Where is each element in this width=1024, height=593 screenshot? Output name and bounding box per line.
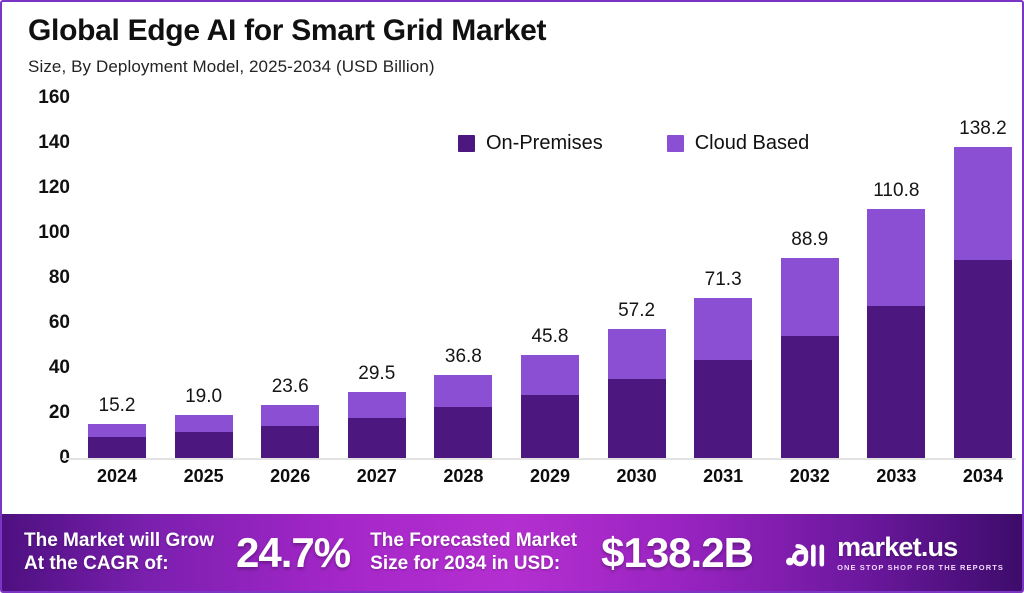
bar-value-label: 15.2 (99, 395, 136, 417)
bar-group[interactable]: 45.8 (521, 98, 579, 458)
forecast-value: $138.2B (601, 529, 753, 577)
bar-segment-on-premises (348, 418, 406, 459)
cagr-caption-line1: The Market will Grow (24, 530, 214, 552)
bar-segment-cloud-based (521, 355, 579, 395)
forecast-caption-line2: Size for 2034 in USD: (370, 553, 577, 575)
bar-group[interactable]: 36.8 (434, 98, 492, 458)
bar-segment-cloud-based (867, 209, 925, 306)
bar-segment-cloud-based (348, 392, 406, 418)
bar-segment-cloud-based (781, 258, 839, 336)
bar-stack: 19.0 (175, 415, 233, 458)
x-axis-tick: 2029 (521, 466, 579, 498)
brand-tagline: ONE STOP SHOP FOR THE REPORTS (837, 564, 1004, 572)
bar-stack: 110.8 (867, 209, 925, 458)
bar-group[interactable]: 88.9 (781, 98, 839, 458)
bar-group[interactable]: 110.8 (867, 98, 925, 458)
bar-value-label: 110.8 (873, 180, 919, 202)
brand-logo[interactable]: market.us ONE STOP SHOP FOR THE REPORTS (784, 534, 1004, 572)
cagr-value: 24.7% (236, 529, 350, 577)
bar-value-label: 88.9 (791, 229, 828, 251)
chart-header: Global Edge AI for Smart Grid Market Siz… (28, 14, 1002, 77)
chart-subtitle: Size, By Deployment Model, 2025-2034 (US… (28, 57, 1002, 77)
bar-segment-cloud-based (175, 415, 233, 432)
cagr-caption-line2: At the CAGR of: (24, 553, 214, 575)
bar-segment-on-premises (867, 306, 925, 458)
y-axis: 160140120100806040200 (2, 98, 80, 464)
market-us-logomark-icon (784, 536, 828, 570)
bar-segment-on-premises (261, 426, 319, 458)
infographic-root: Global Edge AI for Smart Grid Market Siz… (0, 0, 1024, 593)
y-axis-tick: 60 (49, 312, 70, 334)
bar-value-label: 71.3 (705, 269, 742, 291)
x-axis-tick: 2031 (694, 466, 752, 498)
x-axis-tick: 2027 (348, 466, 406, 498)
y-axis-tick: 100 (38, 222, 70, 244)
axis-baseline (62, 458, 1016, 460)
bar-stack: 88.9 (781, 258, 839, 458)
x-axis: 2024202520262027202820292030203120322033… (88, 466, 1012, 498)
bar-value-label: 19.0 (185, 386, 222, 408)
bar-segment-cloud-based (434, 375, 492, 407)
bar-segment-on-premises (954, 260, 1012, 458)
bar-value-label: 29.5 (358, 363, 395, 385)
bar-segment-on-premises (694, 360, 752, 458)
bar-segment-on-premises (781, 336, 839, 458)
x-axis-tick: 2032 (781, 466, 839, 498)
bar-value-label: 138.2 (959, 118, 1007, 140)
x-axis-tick: 2030 (608, 466, 666, 498)
bar-segment-on-premises (434, 407, 492, 458)
y-axis-tick: 120 (38, 177, 70, 199)
bar-segment-on-premises (608, 379, 666, 458)
forecast-caption: The Forecasted Market Size for 2034 in U… (370, 530, 577, 575)
bar-segment-cloud-based (694, 298, 752, 361)
x-axis-tick: 2033 (867, 466, 925, 498)
x-axis-tick: 2028 (434, 466, 492, 498)
bar-segment-on-premises (521, 395, 579, 458)
cagr-caption: The Market will Grow At the CAGR of: (24, 530, 214, 575)
bar-stack: 45.8 (521, 355, 579, 458)
y-axis-tick: 80 (49, 267, 70, 289)
brand-name: market.us (837, 534, 1004, 561)
bar-value-label: 36.8 (445, 346, 482, 368)
bar-segment-on-premises (88, 437, 146, 458)
bar-value-label: 57.2 (618, 300, 655, 322)
bar-group[interactable]: 19.0 (175, 98, 233, 458)
bar-group[interactable]: 23.6 (261, 98, 319, 458)
y-axis-tick: 40 (49, 357, 70, 379)
page-title: Global Edge AI for Smart Grid Market (28, 14, 1002, 49)
bar-segment-cloud-based (608, 329, 666, 379)
x-axis-tick: 2034 (954, 466, 1012, 498)
bar-segment-cloud-based (261, 405, 319, 426)
bar-stack: 71.3 (694, 298, 752, 458)
bar-segment-on-premises (175, 432, 233, 458)
bar-series-container: 15.219.023.629.536.845.857.271.388.9110.… (88, 98, 1012, 458)
bar-segment-cloud-based (88, 424, 146, 438)
forecast-caption-line1: The Forecasted Market (370, 530, 577, 552)
bar-group[interactable]: 15.2 (88, 98, 146, 458)
brand-text: market.us ONE STOP SHOP FOR THE REPORTS (837, 534, 1004, 572)
bar-group[interactable]: 57.2 (608, 98, 666, 458)
bar-stack: 15.2 (88, 424, 146, 458)
bar-group[interactable]: 29.5 (348, 98, 406, 458)
plot-area: 160140120100806040200 On-PremisesCloud B… (2, 98, 1024, 514)
bar-group[interactable]: 138.2 (954, 98, 1012, 458)
bar-stack: 57.2 (608, 329, 666, 458)
bar-stack: 138.2 (954, 147, 1012, 458)
bar-stack: 23.6 (261, 405, 319, 458)
x-axis-tick: 2024 (88, 466, 146, 498)
x-axis-tick: 2026 (261, 466, 319, 498)
bar-group[interactable]: 71.3 (694, 98, 752, 458)
bar-stack: 29.5 (348, 392, 406, 458)
bar-value-label: 45.8 (531, 326, 568, 348)
y-axis-tick: 140 (38, 132, 70, 154)
bar-stack: 36.8 (434, 375, 492, 458)
y-axis-tick: 20 (49, 402, 70, 424)
footer-bar: The Market will Grow At the CAGR of: 24.… (2, 514, 1022, 591)
x-axis-tick: 2025 (175, 466, 233, 498)
bar-value-label: 23.6 (272, 376, 309, 398)
y-axis-tick: 160 (38, 87, 70, 109)
bar-segment-cloud-based (954, 147, 1012, 260)
